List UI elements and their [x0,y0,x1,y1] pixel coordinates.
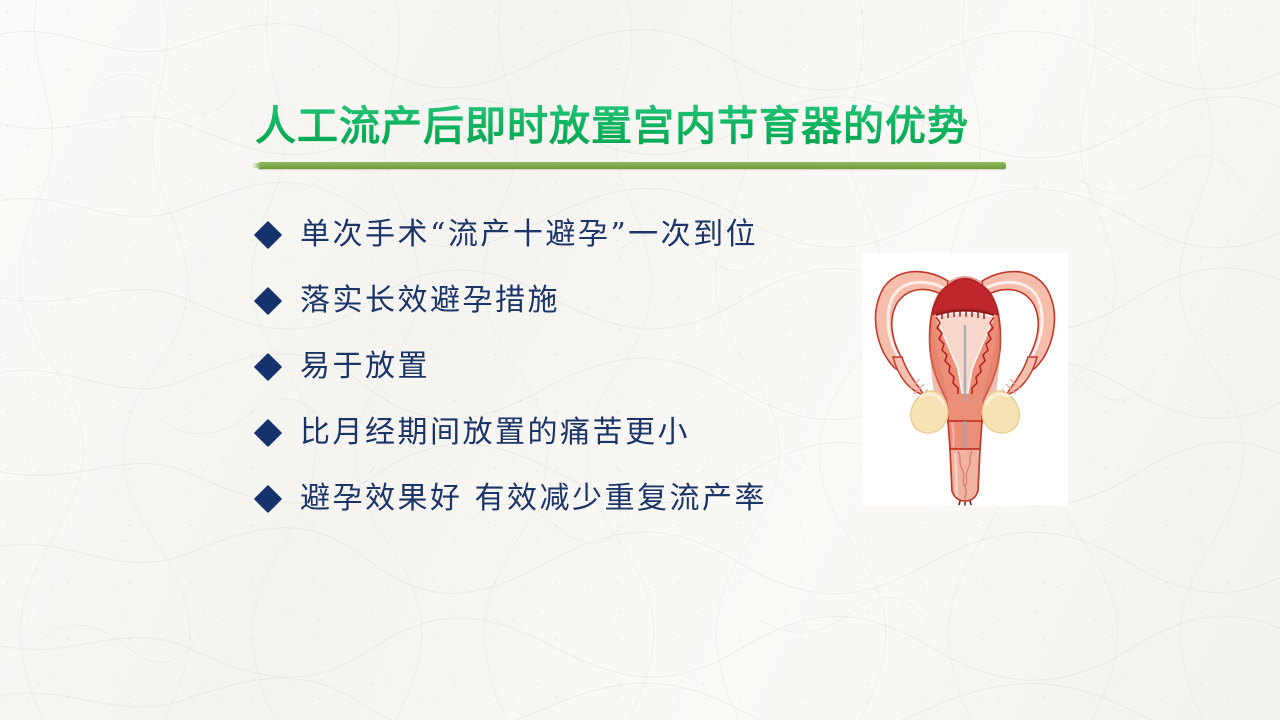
list-item[interactable]: 比月经期间放置的痛苦更小 [258,400,898,466]
title-block: 人工流产后即时放置宫内节育器的优势 [255,104,1015,149]
diamond-bullet-icon [254,419,282,447]
list-item-label: 比月经期间放置的痛苦更小 [300,418,690,448]
bullet-list: 单次手术“流产十避孕”一次到位 落实长效避孕措施 易于放置 比月经期间放置的痛苦… [258,202,898,532]
diamond-bullet-icon [254,221,282,249]
diamond-bullet-icon [254,485,282,513]
list-item-label: 避孕效果好 有效减少重复流产率 [300,484,767,514]
diamond-bullet-icon [254,287,282,315]
slide-canvas: 人工流产后即时放置宫内节育器的优势 单次手术“流产十避孕”一次到位 落实长效避孕… [0,0,1280,720]
title-underline-rule [258,162,1006,169]
list-item[interactable]: 避孕效果好 有效减少重复流产率 [258,466,898,532]
list-item[interactable]: 落实长效避孕措施 [258,268,898,334]
list-item-label: 落实长效避孕措施 [300,286,560,316]
list-item[interactable]: 单次手术“流产十避孕”一次到位 [258,202,898,268]
list-item[interactable]: 易于放置 [258,334,898,400]
uterus-anatomy-illustration [862,253,1068,506]
list-item-label: 易于放置 [300,352,430,382]
diamond-bullet-icon [254,353,282,381]
list-item-label: 单次手术“流产十避孕”一次到位 [300,220,758,250]
page-title: 人工流产后即时放置宫内节育器的优势 [255,104,1015,149]
